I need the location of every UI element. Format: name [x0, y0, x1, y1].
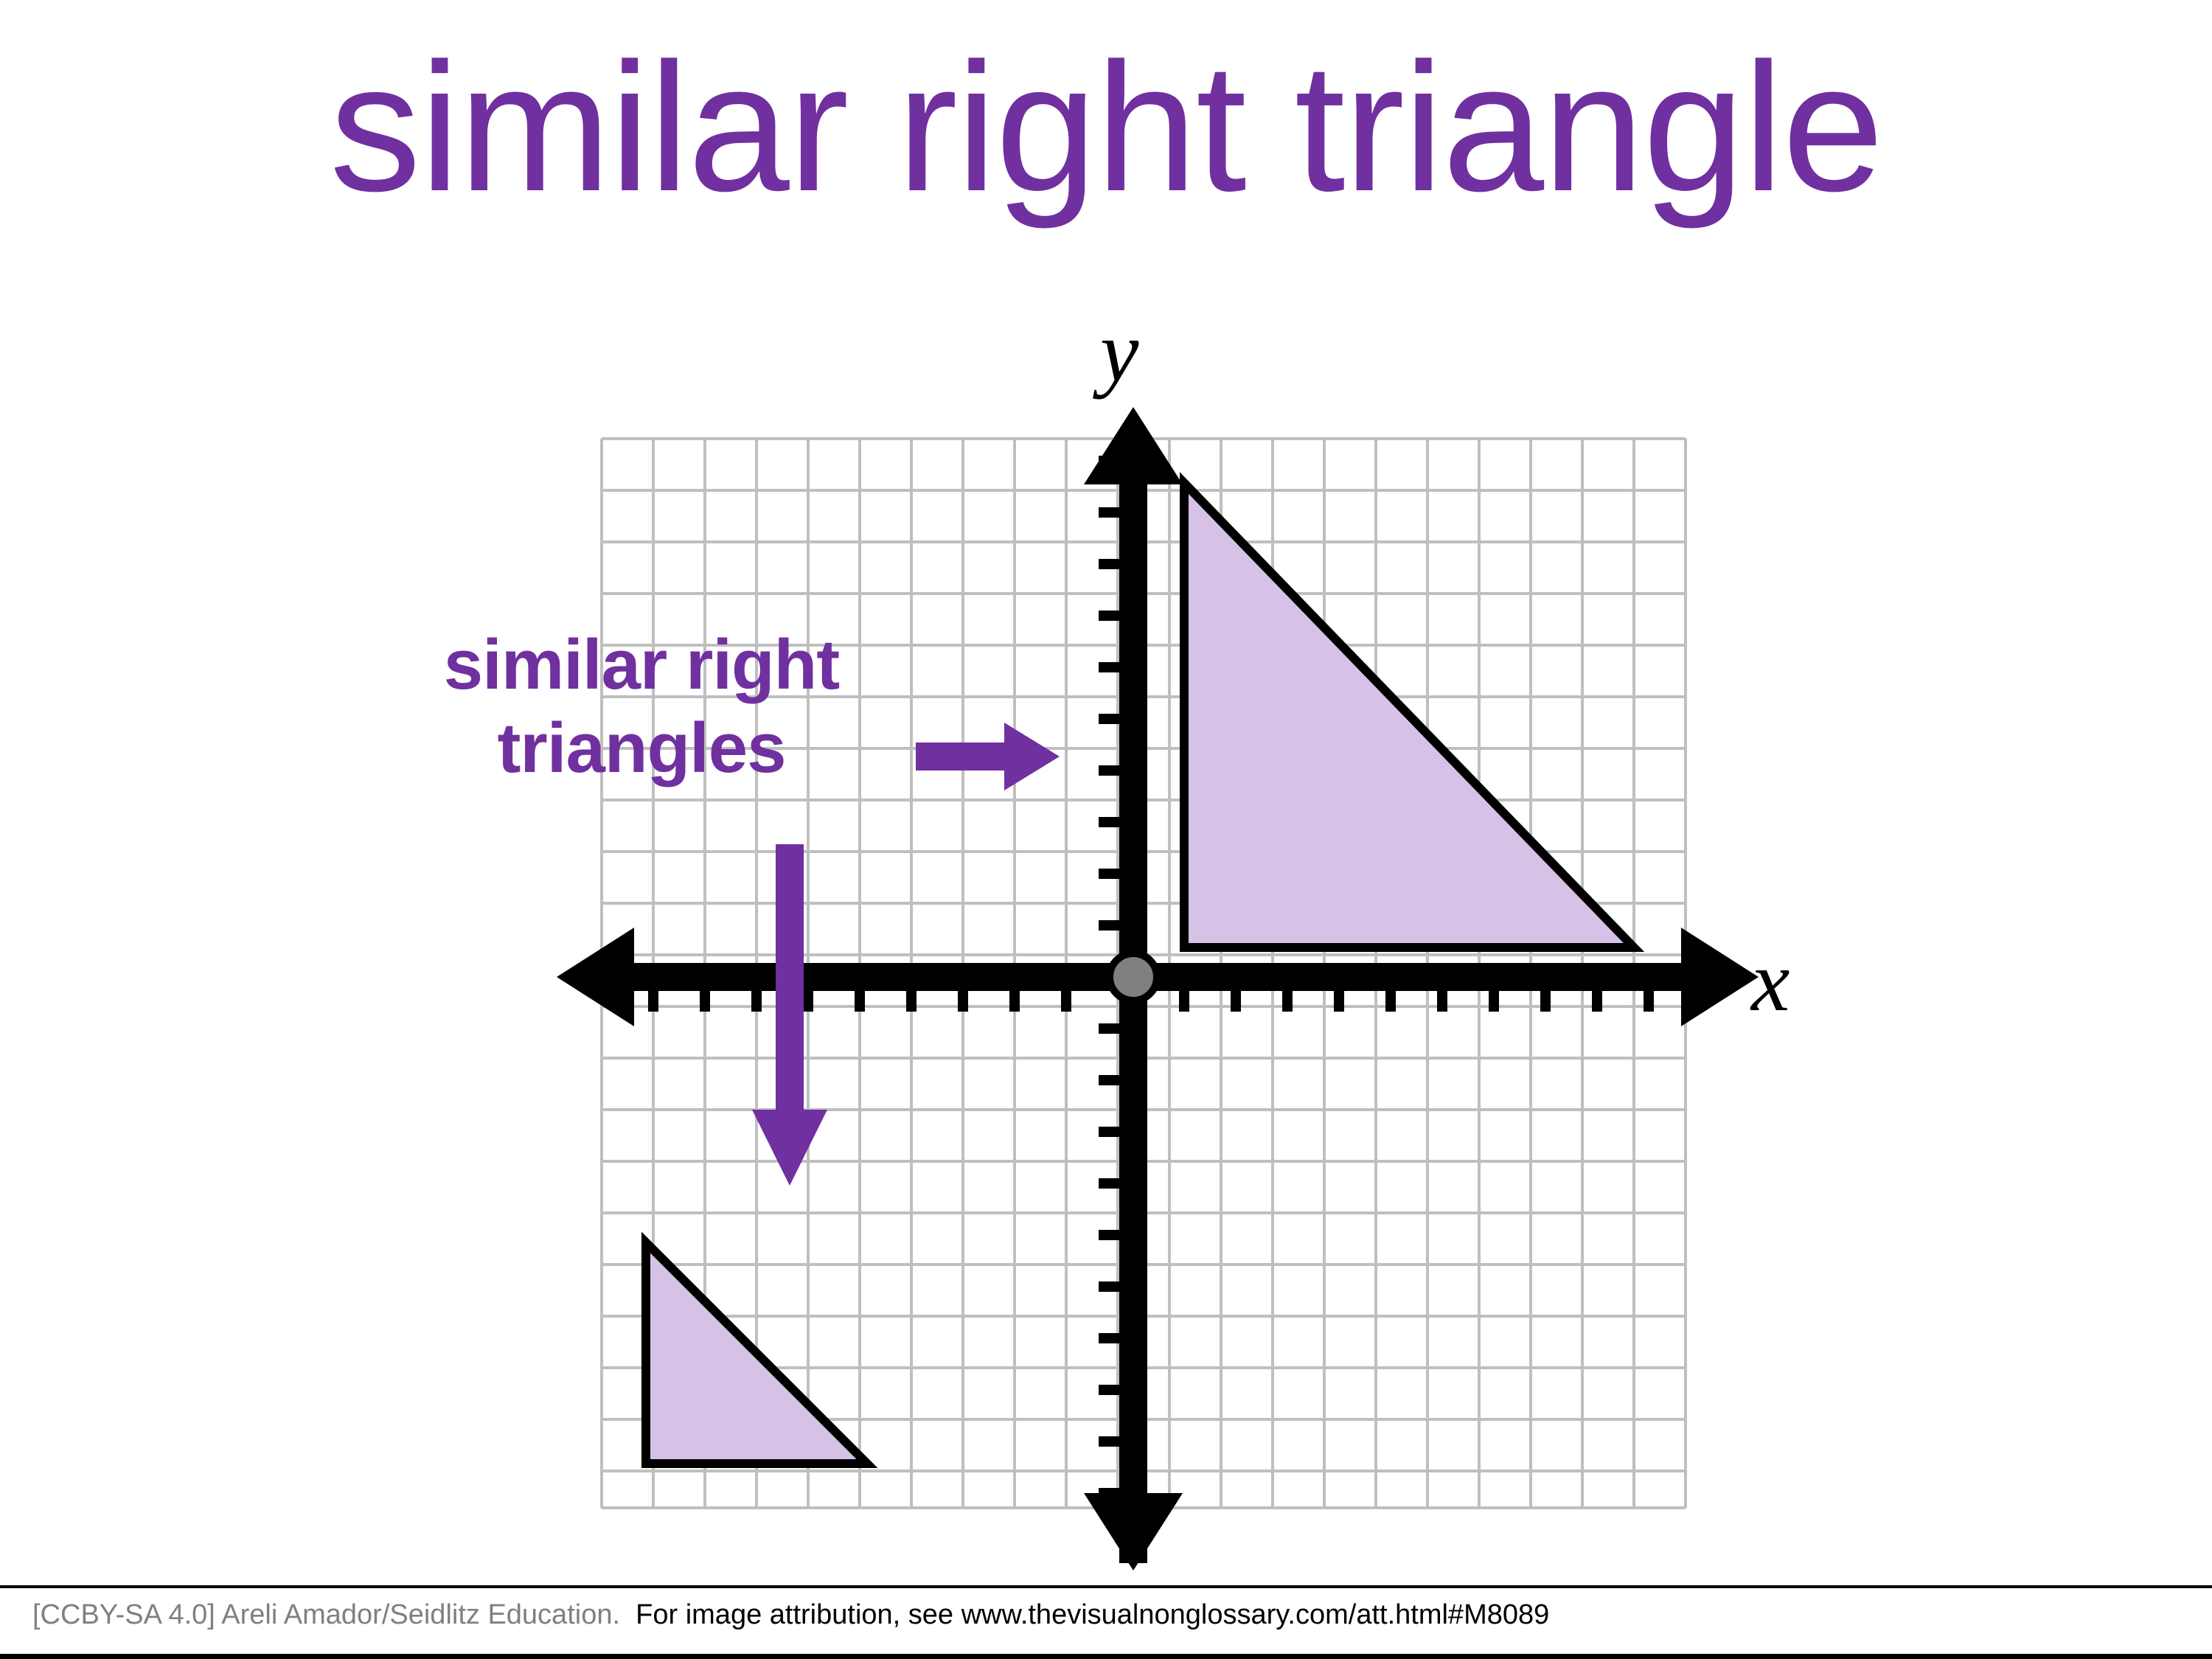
coordinate-plane-figure: y x similar right triangles [0, 0, 2212, 1585]
coordinate-plane-svg [0, 0, 2212, 1585]
attribution-credit: [CCBY-SA 4.0] Areli Amador/Seidlitz Educ… [32, 1599, 620, 1630]
large-right-triangle [1184, 483, 1634, 947]
x-axis-label: x [1751, 938, 1790, 1025]
attribution-footer: [CCBY-SA 4.0] Areli Amador/Seidlitz Educ… [32, 1599, 1549, 1632]
y-axis-label: y [1100, 308, 1138, 395]
footer-bottom-divider [0, 1654, 2212, 1659]
callout-label: similar right triangles [354, 623, 929, 790]
attribution-note: For image attribution, see www.thevisual… [636, 1599, 1549, 1630]
callout-label-line-2: triangles [354, 706, 929, 790]
footer-divider [0, 1585, 2212, 1588]
origin-dot [1110, 953, 1157, 1001]
callout-label-line-1: similar right [354, 623, 929, 706]
slide-canvas: similar right triangle [0, 0, 2212, 1659]
arrow-down-icon [752, 844, 827, 1186]
arrow-right-icon [916, 723, 1060, 790]
